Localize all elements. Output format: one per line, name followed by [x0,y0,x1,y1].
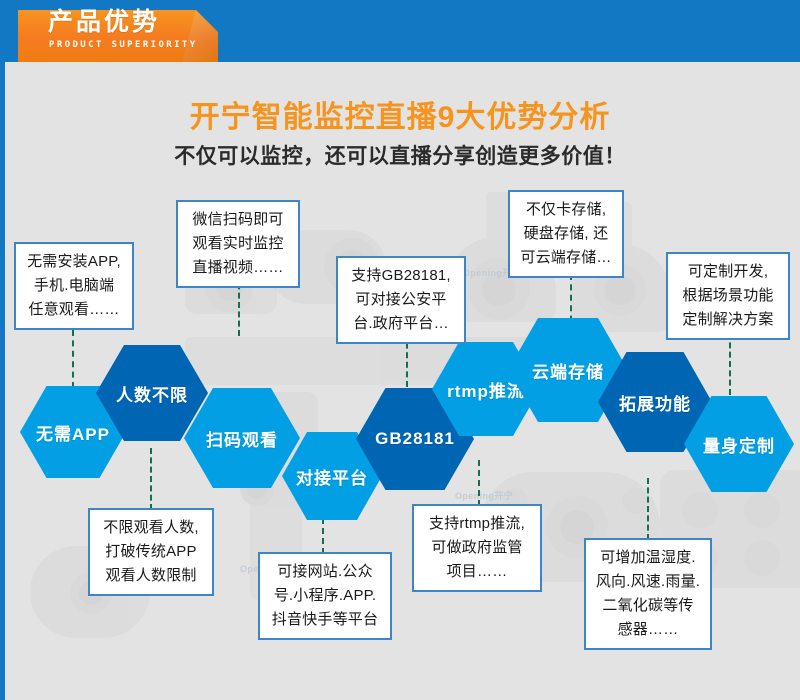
section-banner: 产品优势 PRODUCT SUPERIORITY [0,0,800,62]
callout-wechat-scan: 微信扫码即可 观看实时监控 直播视频…… [176,200,300,288]
callout-sensor-expansion: 可增加温湿度. 风向.风速.雨量. 二氧化碳等传 感器…… [584,538,712,650]
connector-line-5 [729,333,731,395]
page-subtitle: 不仅可以监控，还可以直播分享创造更多价值！ [0,140,800,170]
product-advantage-infographic: 产品优势 PRODUCT SUPERIORITY [0,0,800,700]
callout-no-app-install: 无需安装APP, 手机.电脑端 任意观看…… [14,242,134,330]
watermark-opening-3: Opening开宁 [455,489,513,502]
page-title: 开宁智能监控直播9大优势分析 [0,92,800,136]
callout-platform-channels: 可接网站.公众 号.小程序.APP. 抖音快手等平台 [258,552,392,640]
connector-line-9 [647,478,649,540]
banner-title-cn: 产品优势 [48,8,160,36]
callout-rtmp-government: 支持rtmp推流, 可做政府监管 项目…… [412,504,542,592]
callout-unlimited-viewer-count: 不限观看人数, 打破传统APP 观看人数限制 [88,508,214,596]
callout-custom-development: 可定制开发, 根据场景功能 定制解决方案 [666,252,790,340]
banner-title-en: PRODUCT SUPERIORITY [49,40,198,50]
callout-cloud-storage: 不仅卡存储, 硬盘存储, 还 可云端存储… [508,190,624,278]
connector-line-1 [72,330,74,388]
connector-line-6 [150,448,152,510]
connector-line-8 [478,460,480,506]
callout-gb28181-support: 支持GB28181, 可对接公安平 台.政府平台… [336,256,466,344]
